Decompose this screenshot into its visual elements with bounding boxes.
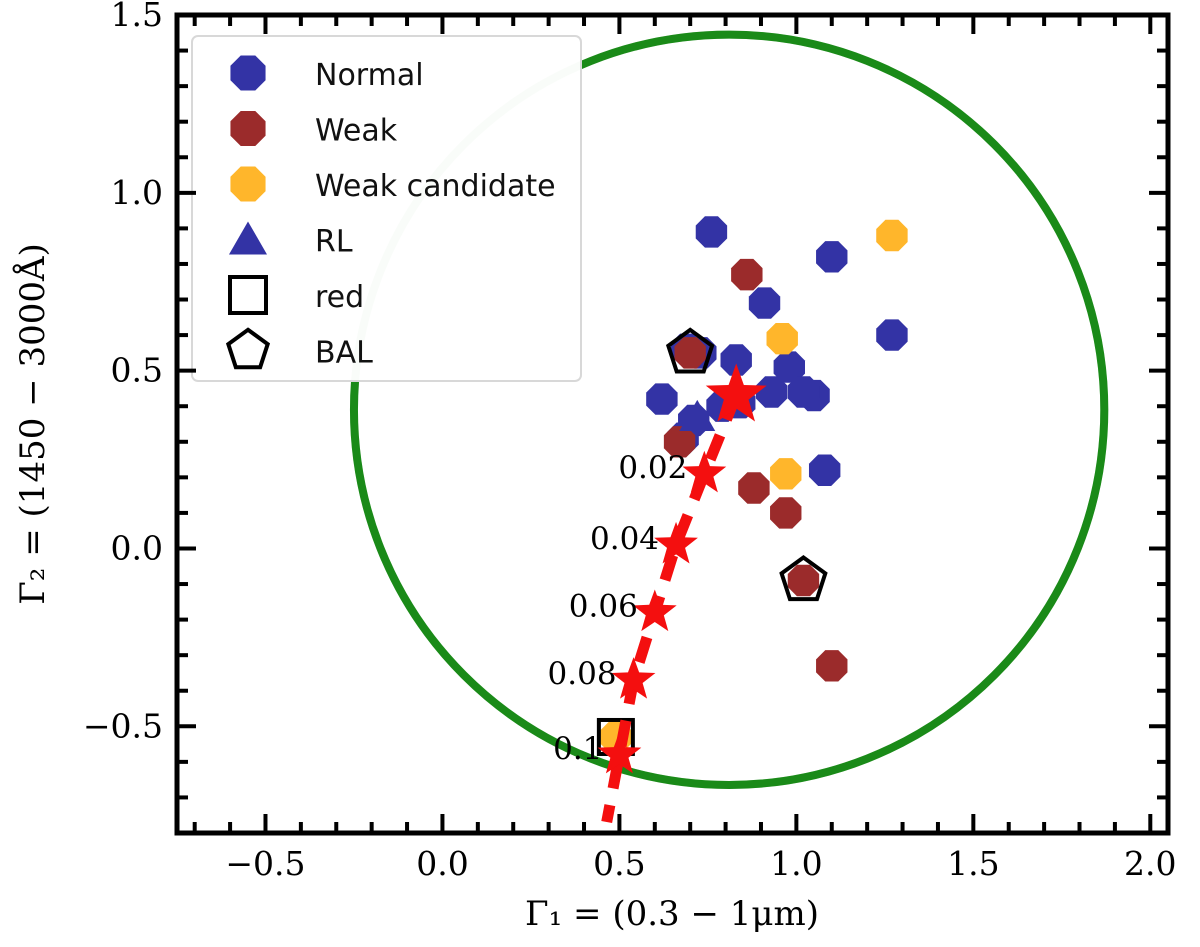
data-point-octagon — [788, 565, 819, 596]
y-tick-label: 0.5 — [111, 351, 163, 390]
data-point-octagon — [770, 497, 801, 528]
legend-item-label: Weak — [315, 114, 398, 149]
data-point-octagon — [788, 376, 819, 407]
data-point-octagon — [674, 337, 705, 368]
figure-background — [0, 0, 1200, 947]
reddening-value-label: 0.06 — [569, 588, 638, 624]
y-axis-title: Γ₂ = (1450 − 3000Å) — [12, 243, 53, 605]
reddening-value-label: 0.1 — [553, 731, 602, 767]
octagon-icon — [230, 111, 265, 146]
data-point-octagon — [876, 220, 907, 251]
x-tick-label: 0.0 — [416, 844, 468, 883]
legend-item-label: Weak candidate — [315, 169, 556, 204]
reddening-value-label: 0.04 — [590, 521, 659, 557]
plot-canvas: NormalWeakWeak candidateRLredBAL 0.020.0… — [0, 0, 1200, 947]
data-point-octagon — [816, 241, 847, 272]
data-point-octagon — [738, 472, 769, 503]
data-point-octagon — [756, 376, 787, 407]
x-tick-label: 1.5 — [947, 844, 999, 883]
data-point-octagon — [816, 650, 847, 681]
y-tick-label: −0.5 — [83, 706, 163, 745]
data-point-octagon — [770, 458, 801, 489]
data-point-octagon — [876, 319, 907, 350]
data-point-octagon — [731, 259, 762, 290]
legend-item-label: BAL — [315, 336, 373, 371]
x-axis-title: Γ₁ = (0.3 − 1μm) — [525, 894, 819, 934]
x-tick-label: 0.5 — [593, 844, 645, 883]
x-tick-label: −0.5 — [225, 844, 305, 883]
y-tick-label: 0.0 — [111, 528, 163, 567]
octagon-icon — [230, 55, 265, 90]
scatter-plot-figure: NormalWeakWeak candidateRLredBAL 0.020.0… — [0, 0, 1200, 947]
legend-item-label: red — [315, 280, 364, 315]
legend-item-weak[interactable]: Weak — [230, 111, 397, 149]
data-point-octagon — [646, 383, 677, 414]
data-point-octagon — [809, 455, 840, 486]
reddening-value-label: 0.02 — [618, 450, 687, 486]
legend-item-label: RL — [315, 225, 353, 260]
legend: NormalWeakWeak candidateRLredBAL — [192, 36, 581, 381]
x-tick-label: 1.0 — [770, 844, 822, 883]
data-point-octagon — [696, 216, 727, 247]
octagon-icon — [230, 166, 265, 201]
x-tick-label: 2.0 — [1124, 844, 1176, 883]
reddening-value-label: 0.08 — [548, 656, 617, 692]
y-tick-label: 1.5 — [111, 0, 163, 34]
data-point-octagon — [749, 287, 780, 318]
data-point-octagon — [767, 323, 798, 354]
legend-item-label: Normal — [315, 58, 424, 93]
y-tick-label: 1.0 — [111, 173, 163, 212]
